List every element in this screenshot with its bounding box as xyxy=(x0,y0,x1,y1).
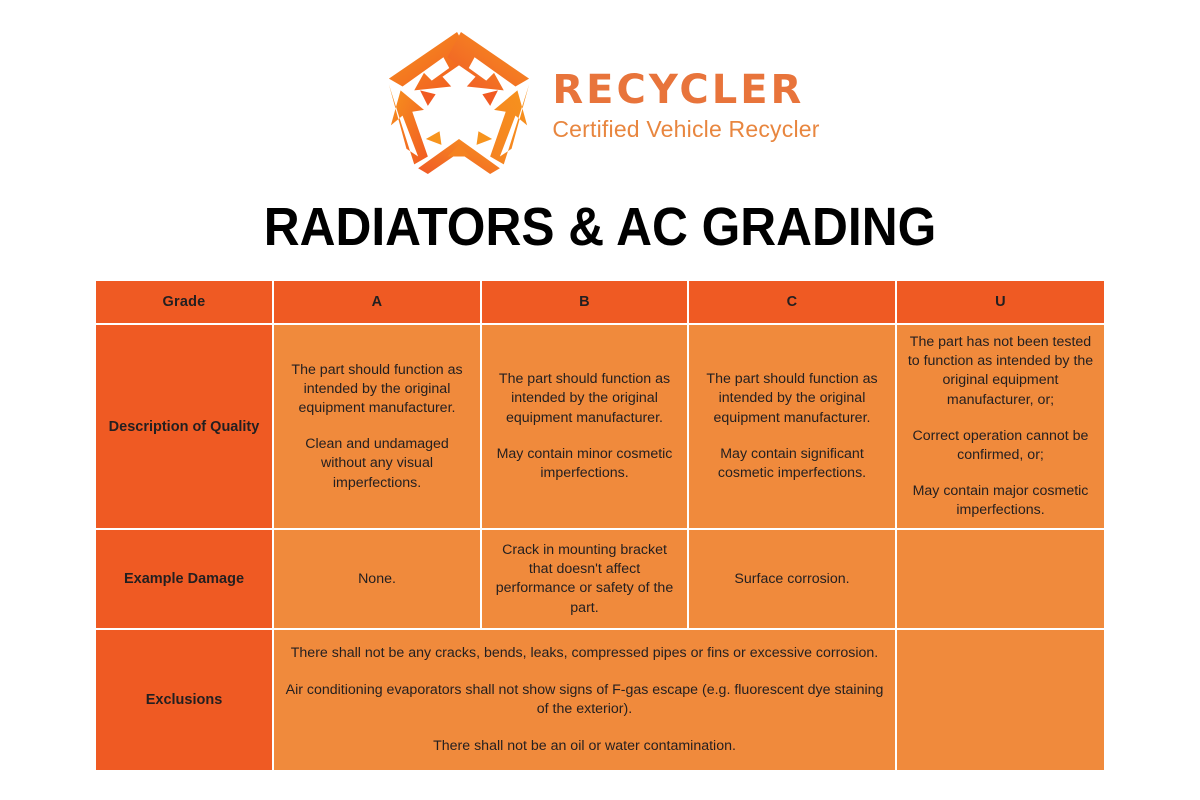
cell-paragraph: The part has not been tested to function… xyxy=(907,333,1094,410)
cell-paragraph: May contain significant cosmetic imperfe… xyxy=(699,445,885,483)
row-label-example-damage: Example Damage xyxy=(96,530,274,630)
page-title: RADIATORS & AC GRADING xyxy=(48,196,1152,258)
table-row-description-of-quality: Description of Quality The part should f… xyxy=(96,325,1104,530)
cell-paragraph: Clean and undamaged without any visual i… xyxy=(284,435,470,493)
cell-damage-b: Crack in mounting bracket that doesn't a… xyxy=(482,530,689,630)
cell-description-c: The part should function as intended by … xyxy=(689,325,897,530)
cell-paragraph: The part should function as intended by … xyxy=(492,370,677,428)
cell-description-a: The part should function as intended by … xyxy=(274,325,482,530)
logo-wordmark: RECYCLER Certified Vehicle Recycler xyxy=(552,69,819,142)
cell-paragraph: None. xyxy=(284,570,470,589)
cell-paragraph: Air conditioning evaporators shall not s… xyxy=(284,681,885,720)
brand-name: RECYCLER xyxy=(552,69,819,111)
table-row-example-damage: Example Damage None. Crack in mounting b… xyxy=(96,530,1104,630)
cell-paragraph: There shall not be an oil or water conta… xyxy=(284,737,885,757)
grading-table: Grade A B C U Description of Quality The… xyxy=(96,281,1104,770)
cell-damage-a: None. xyxy=(274,530,482,630)
cell-paragraph: The part should function as intended by … xyxy=(699,370,885,428)
cell-damage-u xyxy=(897,530,1104,630)
cell-description-b: The part should function as intended by … xyxy=(482,325,689,530)
recycling-star-icon xyxy=(380,30,538,176)
column-header-a: A xyxy=(274,281,482,325)
column-header-c: C xyxy=(689,281,897,325)
cell-description-u: The part has not been tested to function… xyxy=(897,325,1104,530)
column-header-u: U xyxy=(897,281,1104,325)
cell-exclusions-merged: There shall not be any cracks, bends, le… xyxy=(274,630,897,770)
cell-paragraph: May contain minor cosmetic imperfections… xyxy=(492,445,677,483)
cell-paragraph: Correct operation cannot be confirmed, o… xyxy=(907,427,1094,465)
cell-exclusions-u xyxy=(897,630,1104,770)
cell-paragraph: Crack in mounting bracket that doesn't a… xyxy=(492,541,677,618)
cell-paragraph: The part should function as intended by … xyxy=(284,361,470,419)
cell-paragraph: There shall not be any cracks, bends, le… xyxy=(284,644,885,664)
row-label-exclusions: Exclusions xyxy=(96,630,274,770)
cell-paragraph: Surface corrosion. xyxy=(699,570,885,589)
cell-paragraph: May contain major cosmetic imperfections… xyxy=(907,482,1094,520)
row-label-description-of-quality: Description of Quality xyxy=(96,325,274,530)
table-row-exclusions: Exclusions There shall not be any cracks… xyxy=(96,630,1104,770)
cell-damage-c: Surface corrosion. xyxy=(689,530,897,630)
table-header-row: Grade A B C U xyxy=(96,281,1104,325)
column-header-b: B xyxy=(482,281,689,325)
logo-block: RECYCLER Certified Vehicle Recycler xyxy=(0,28,1200,178)
column-header-grade: Grade xyxy=(96,281,274,325)
brand-tagline: Certified Vehicle Recycler xyxy=(552,117,819,142)
